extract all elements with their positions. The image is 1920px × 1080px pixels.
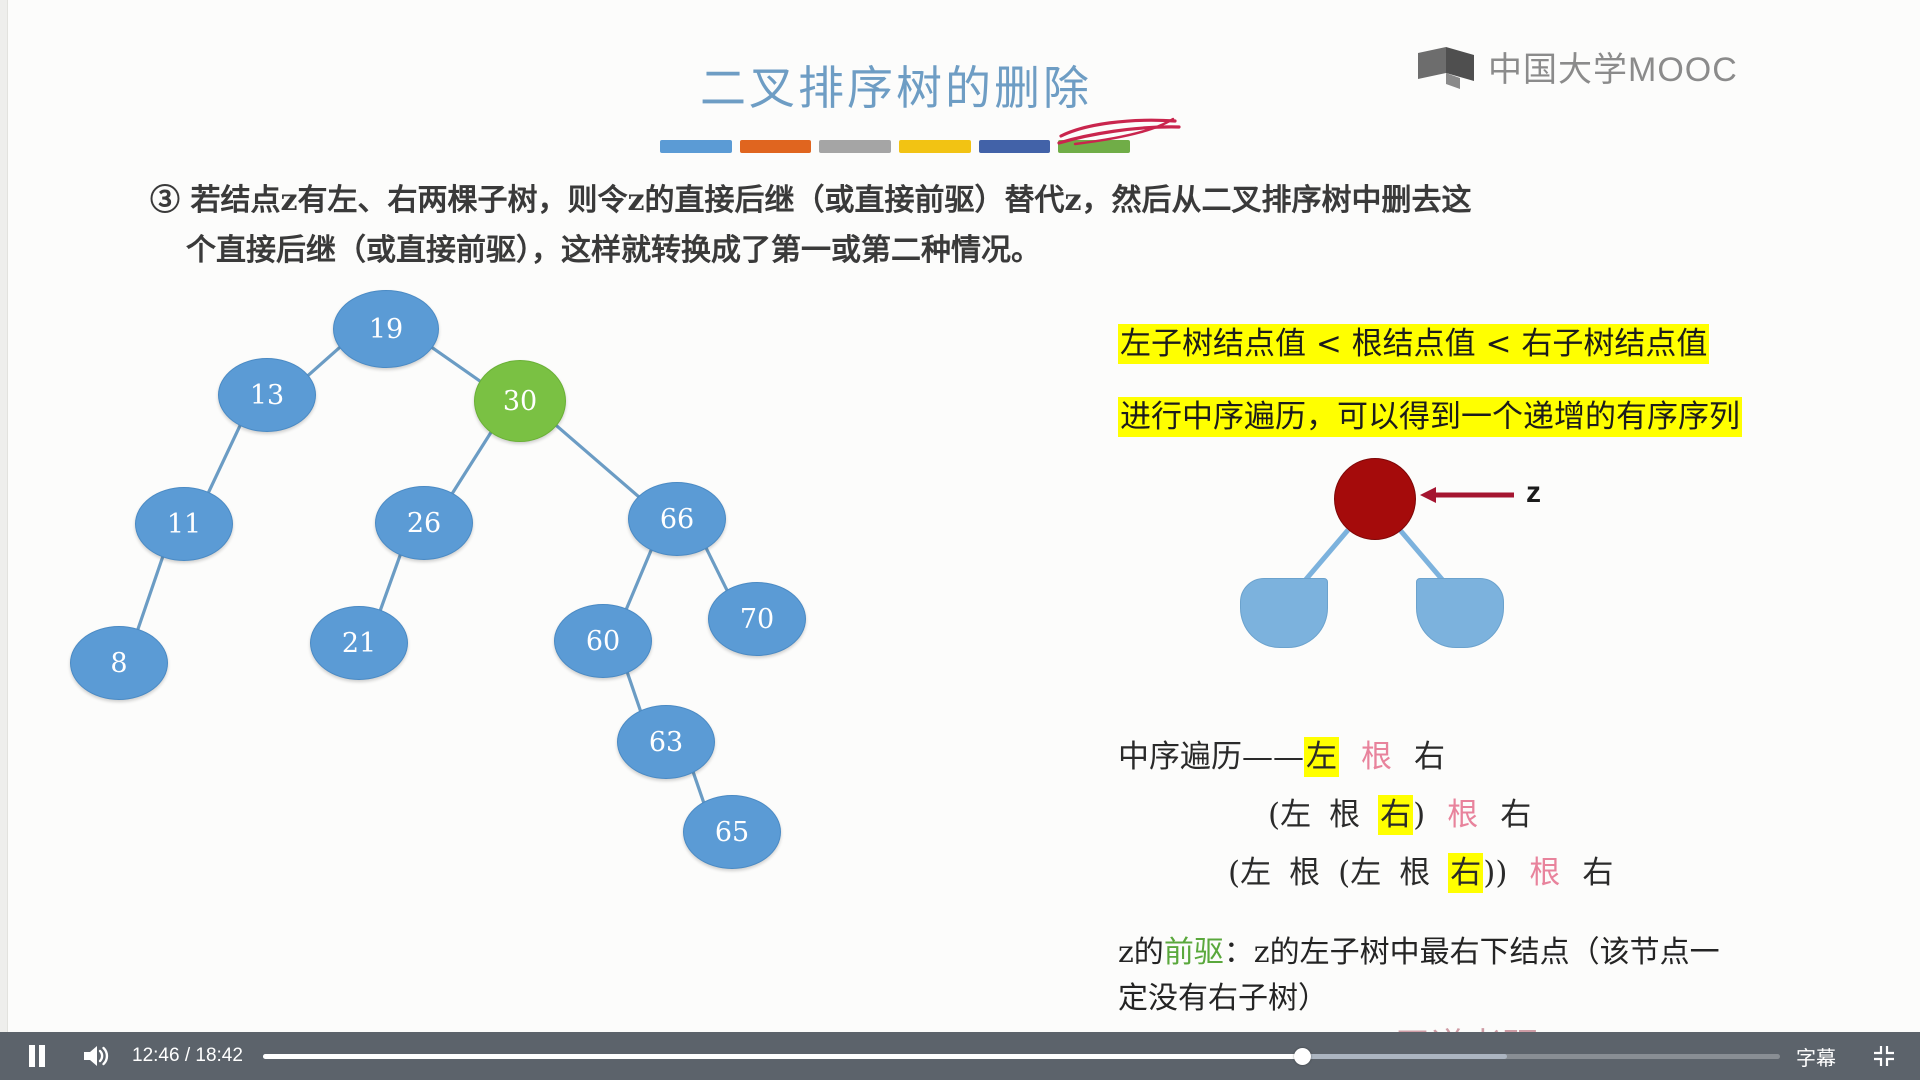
page-title: 二叉排序树的删除 xyxy=(700,52,1300,118)
mooc-logo: 中国大学MOOC xyxy=(1416,42,1738,91)
traversal-line-3-p1: 根 xyxy=(1289,855,1320,891)
exit-fullscreen-button[interactable] xyxy=(1862,1032,1906,1080)
tree-node-70: 70 xyxy=(708,582,806,656)
traversal-line-1-right: 右 xyxy=(1414,739,1445,775)
progress-knob[interactable] xyxy=(1294,1048,1311,1065)
tree-edge-26-21 xyxy=(380,552,402,612)
predecessor-note: z的前驱：z的左子树中最右下结点（该节点一 定没有右子树） xyxy=(1118,930,1818,1022)
z-left-subtree-shape xyxy=(1240,578,1328,648)
traversal-line-3-p4: 右 xyxy=(1448,853,1483,893)
title-bar-5 xyxy=(979,140,1051,153)
bst-property-rule-text: 左子树结点值 < 根结点值 < 右子树结点值 xyxy=(1118,324,1709,364)
tree-edge-11-8 xyxy=(137,554,163,631)
tree-node-label: 13 xyxy=(250,380,284,411)
volume-icon xyxy=(82,1044,110,1068)
mooc-logo-text: 中国大学MOOC xyxy=(1488,42,1738,91)
tree-node-60: 60 xyxy=(554,604,652,678)
traversal-line-1-prefix: 中序遍历—— xyxy=(1118,739,1304,775)
traversal-line-2: (左根右)根右 xyxy=(1118,786,1878,844)
exit-fullscreen-icon xyxy=(1872,1044,1896,1068)
video-player-stage: 二叉排序树的删除 中国大学MOOC ③ 若结点z有左、右两棵子树，则令 xyxy=(0,0,1920,1080)
tree-edge-60-63 xyxy=(626,669,641,712)
tree-node-21: 21 xyxy=(310,606,408,680)
traversal-line-3: (左根(左根右))根右 xyxy=(1118,844,1878,902)
inorder-property-rule: 进行中序遍历，可以得到一个递增的有序序列 xyxy=(1118,398,1742,437)
traversal-line-3-p5: )) xyxy=(1483,855,1507,891)
tree-edge-66-60 xyxy=(626,547,653,611)
traversal-line-1-root: 根 xyxy=(1361,739,1392,775)
tree-edge-30-26 xyxy=(451,430,492,495)
paragraph-line-2: 个直接后继（或直接前驱），这样就转换成了第一或第二种情况。 xyxy=(150,226,1790,276)
tree-edge-19-13 xyxy=(306,346,342,378)
title-underline-bars xyxy=(660,140,1130,153)
inorder-traversal-lines: 中序遍历——左根右 (左根右)根右 (左根(左根右))根右 xyxy=(1118,728,1878,902)
tree-node-label: 63 xyxy=(649,727,683,758)
paragraph-line-1: ③ 若结点z有左、右两棵子树，则令z的直接后继（或直接前驱）替代z，然后从二叉排… xyxy=(150,183,1472,218)
tree-node-11: 11 xyxy=(135,487,233,561)
traversal-line-2-p1: 根 xyxy=(1329,797,1360,833)
z-right-subtree-shape xyxy=(1416,578,1504,648)
traversal-line-3-p7: 右 xyxy=(1582,855,1613,891)
traversal-line-3-p6: 根 xyxy=(1529,855,1560,891)
progress-played xyxy=(263,1054,1302,1059)
traversal-line-3-p2: (左 xyxy=(1338,855,1381,891)
tree-edge-30-66 xyxy=(553,423,639,498)
tree-node-26: 26 xyxy=(375,486,473,560)
traversal-line-2-p2: 右 xyxy=(1378,795,1413,835)
predecessor-note-line-2: 定没有右子树） xyxy=(1118,981,1328,1016)
traversal-line-3-p3: 根 xyxy=(1399,855,1430,891)
predecessor-keyword: 前驱 xyxy=(1164,935,1224,970)
tree-node-label: 26 xyxy=(407,508,441,539)
tree-edge-13-11 xyxy=(208,423,242,494)
tree-edge-66-70 xyxy=(704,545,727,592)
z-node-circle xyxy=(1334,458,1416,540)
title-bar-1 xyxy=(660,140,732,153)
time-display: 12:46 / 18:42 xyxy=(132,1045,243,1067)
tree-node-label: 70 xyxy=(740,604,774,635)
mooc-book-mark-icon xyxy=(1416,45,1476,89)
z-node-label: z xyxy=(1526,476,1541,510)
progress-bar[interactable] xyxy=(263,1032,1780,1080)
slide-paragraph: ③ 若结点z有左、右两棵子树，则令z的直接后继（或直接前驱）替代z，然后从二叉排… xyxy=(150,176,1790,276)
volume-button[interactable] xyxy=(72,1032,120,1080)
slide-left-edge xyxy=(0,0,8,1032)
title-bar-4 xyxy=(899,140,971,153)
tree-node-8: 8 xyxy=(70,626,168,700)
traversal-line-2-p4: 根 xyxy=(1447,797,1478,833)
tree-edge-63-65 xyxy=(692,769,704,804)
tree-node-label: 65 xyxy=(715,817,749,848)
tree-node-label: 21 xyxy=(342,628,376,659)
traversal-line-1-left: 左 xyxy=(1304,737,1339,777)
tree-node-label: 8 xyxy=(110,648,127,679)
bst-property-rule: 左子树结点值 < 根结点值 < 右子树结点值 xyxy=(1118,325,1709,364)
binary-search-tree-diagram: 19133011266682160706365 xyxy=(40,290,1060,990)
traversal-line-2-p5: 右 xyxy=(1500,797,1531,833)
tree-node-65: 65 xyxy=(683,795,781,869)
tree-node-66: 66 xyxy=(628,482,726,556)
tree-edge-19-30 xyxy=(429,345,482,382)
traversal-line-2-p0: (左 xyxy=(1268,797,1311,833)
video-player-controls: 12:46 / 18:42 字幕 xyxy=(0,1032,1920,1080)
traversal-line-2-p3: ) xyxy=(1413,797,1425,833)
predecessor-note-prefix: z的 xyxy=(1118,935,1164,970)
z-node-diagram: z xyxy=(1230,448,1590,668)
tree-node-label: 66 xyxy=(660,504,694,535)
traversal-line-1: 中序遍历——左根右 xyxy=(1118,728,1878,786)
caption-button[interactable]: 字幕 xyxy=(1796,1042,1836,1071)
tree-node-label: 19 xyxy=(369,314,403,345)
inorder-property-rule-text: 进行中序遍历，可以得到一个递增的有序序列 xyxy=(1118,397,1742,437)
tree-node-label: 60 xyxy=(586,626,620,657)
tree-node-label: 11 xyxy=(167,509,201,540)
traversal-line-3-p0: (左 xyxy=(1228,855,1271,891)
tree-node-13: 13 xyxy=(218,358,316,432)
title-bar-6 xyxy=(1058,140,1130,153)
tree-node-63: 63 xyxy=(617,705,715,779)
pause-button[interactable] xyxy=(14,1032,60,1080)
predecessor-note-rest: ：z的左子树中最右下结点（该节点一 xyxy=(1224,935,1720,970)
title-bar-2 xyxy=(740,140,812,153)
tree-node-19: 19 xyxy=(333,290,439,368)
tree-node-30: 30 xyxy=(474,360,566,442)
title-bar-3 xyxy=(819,140,891,153)
tree-node-label: 30 xyxy=(503,386,537,417)
slide-canvas: 二叉排序树的删除 中国大学MOOC ③ 若结点z有左、右两棵子树，则令 xyxy=(0,0,1920,1032)
pause-icon xyxy=(28,1045,46,1067)
